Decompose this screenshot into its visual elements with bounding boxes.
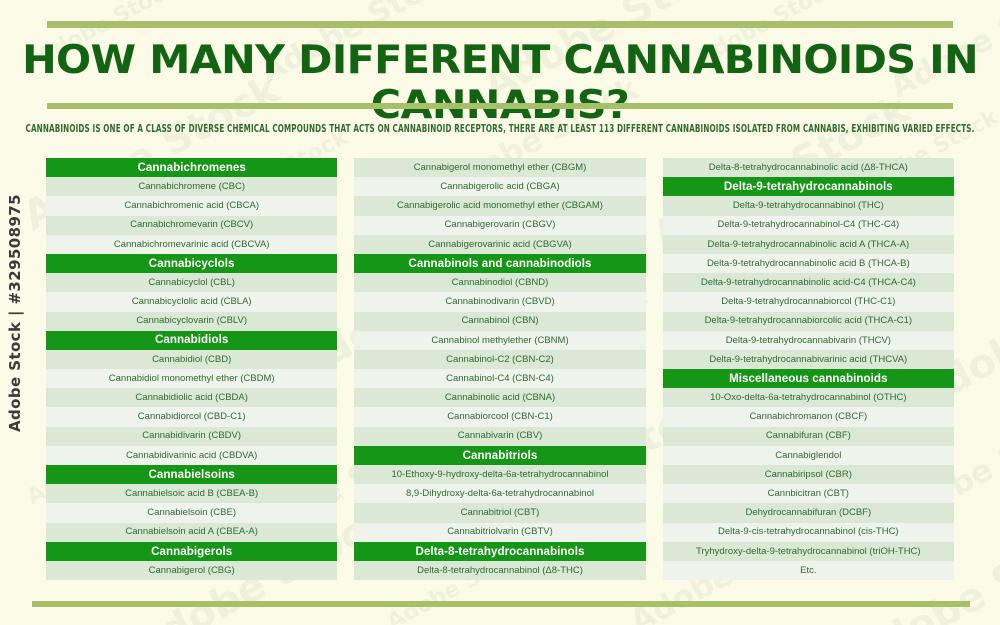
cannabinoid-row: Dehydrocannabifuran (DCBF) [663,503,954,522]
cannabinoid-row: Cannabigerovarin (CBGV) [354,216,645,235]
infographic-page: HOW MANY DIFFERENT CANNABINOIDS IN CANNA… [0,0,1000,625]
cannabinoid-row: Cannabigerol (CBG) [46,561,337,580]
cannabinoid-row: Delta-9-tetrahydrocannabivarinic acid (T… [663,350,954,369]
cannabinoid-row: Cannabitriolvarin (CBTV) [354,523,645,542]
cannabinoid-column-3: Delta-8-tetrahydrocannabinolic acid (Δ8-… [663,158,954,580]
cannabinoid-row: Cannabichromene (CBC) [46,177,337,196]
cannabinoid-row: Delta-9-tetrahydrocannabivarin (THCV) [663,331,954,350]
cannabinoid-row: Delta-9-tetrahydrocannabiorcolic acid (T… [663,312,954,331]
page-title: HOW MANY DIFFERENT CANNABINOIDS IN CANNA… [0,38,1000,128]
cannabinoid-row: Cannabifuran (CBF) [663,427,954,446]
stock-credit-label: Adobe Stock | #329508975 [6,194,24,432]
cannabinoid-column-2: Cannabigerol monomethyl ether (CBGM)Cann… [354,158,645,580]
cannabinoid-row: Cannabidiol monomethyl ether (CBDM) [46,369,337,388]
cannabinoid-row: Cannabinodivarin (CBVD) [354,292,645,311]
cannabinoid-row: 8,9-Dihydroxy-delta-6a-tetrahydrocannabi… [354,484,645,503]
cannabinoid-row: Cannabinol-C2 (CBN-C2) [354,350,645,369]
cannabinoid-row: Cannabigerolic acid (CBGA) [354,177,645,196]
cannabinoid-row: 10-Oxo-delta-6a-tetrahydrocannabinol (OT… [663,388,954,407]
cannabinoid-row: Delta-9-tetrahydrocannabiorcol (THC-C1) [663,292,954,311]
category-header: Delta-8-tetrahydrocannabinols [354,542,645,561]
cannabinoid-row: Cannabicyclovarin (CBLV) [46,312,337,331]
cannabinoid-row: Tryhydroxy-delta-9-tetrahydrocannabinol … [663,542,954,561]
cannabinoid-row: Cannabichromanon (CBCF) [663,407,954,426]
cannabinoid-row: Cannabidiolic acid (CBDA) [46,388,337,407]
cannabinoid-row: Cannabinol methylether (CBNM) [354,331,645,350]
top-divider-rule [47,21,953,28]
cannabinoid-row: Delta-8-tetrahydrocannabinol (Δ8-THC) [354,561,645,580]
cannabinoid-row: Cannabidivarinic acid (CBDVA) [46,446,337,465]
cannabinoid-row: Cannabinol-C4 (CBN-C4) [354,369,645,388]
cannabinoid-row: Cannabinodiol (CBND) [354,273,645,292]
cannabinoid-row: Cannabidiorcol (CBD-C1) [46,407,337,426]
stock-watermark-strip: Adobe Stock | #329508975 [0,0,30,625]
cannabinoid-row: Delta-9-tetrahydrocannabinolic acid A (T… [663,235,954,254]
cannabinoid-row: Cannabinolic acid (CBNA) [354,388,645,407]
cannabinoid-row: Etc. [663,561,954,580]
cannabinoid-row: Cannabidivarin (CBDV) [46,427,337,446]
cannabinoid-row: Delta-9-tetrahydrocannabinolic acid-C4 (… [663,273,954,292]
cannabinoid-row: Cannabiorcool (CBN-C1) [354,407,645,426]
category-header: Cannabigerols [46,542,337,561]
category-header: Cannabitriols [354,446,645,465]
cannabinoid-row: Cannabielsoin acid A (CBEA-A) [46,523,337,542]
cannabinoid-columns: CannabichromenesCannabichromene (CBC)Can… [46,158,954,580]
cannabinoid-row: Cannabielsoic acid B (CBEA-B) [46,484,337,503]
cannabinoid-row: Delta-9-tetrahydrocannabinol (THC) [663,196,954,215]
cannabinoid-row: 10-Ethoxy-9-hydroxy-delta-6a-tetrahydroc… [354,465,645,484]
category-header: Cannabichromenes [46,158,337,177]
cannabinoid-row: Cannabichromevarinic acid (CBCVA) [46,235,337,254]
category-header: Cannabinols and cannabinodiols [354,254,645,273]
cannabinoid-row: Cannabichromenic acid (CBCA) [46,196,337,215]
cannabinoid-row: Cannabigerovarinic acid (CBGVA) [354,235,645,254]
cannabinoid-row: Cannabitriol (CBT) [354,503,645,522]
category-header: Cannabielsoins [46,465,337,484]
cannabinoid-row: Delta-9-tetrahydrocannabinol-C4 (THC-C4) [663,216,954,235]
cannabinoid-row: Cannabigerol monomethyl ether (CBGM) [354,158,645,177]
cannabinoid-row: Cannabiripsol (CBR) [663,465,954,484]
bottom-divider-rule [32,601,970,607]
cannabinoid-row: Cannabicyclol (CBL) [46,273,337,292]
cannabinoid-row: Cannbicitran (CBT) [663,484,954,503]
cannabinoid-row: Cannabicyclolic acid (CBLA) [46,292,337,311]
category-header: Miscellaneous cannabinoids [663,369,954,388]
cannabinoid-row: Cannabinol (CBN) [354,312,645,331]
cannabinoid-column-1: CannabichromenesCannabichromene (CBC)Can… [46,158,337,580]
cannabinoid-row: Delta-9-cis-tetrahydrocannabinol (cis-TH… [663,523,954,542]
category-header: Cannabicyclols [46,254,337,273]
category-header: Delta-9-tetrahydrocannabinols [663,177,954,196]
cannabinoid-row: Cannabiglendol [663,446,954,465]
cannabinoid-row: Cannabielsoin (CBE) [46,503,337,522]
page-subtitle: CANNABINOIDS IS ONE OF A CLASS OF DIVERS… [0,122,1000,135]
cannabinoid-row: Cannabivarin (CBV) [354,427,645,446]
cannabinoid-row: Cannabichromevarin (CBCV) [46,216,337,235]
cannabinoid-row: Delta-9-tetrahydrocannabinolic acid B (T… [663,254,954,273]
middle-divider-rule [47,103,953,109]
cannabinoid-row: Cannabidiol (CBD) [46,350,337,369]
cannabinoid-row: Cannabigerolic acid monomethyl ether (CB… [354,196,645,215]
category-header: Cannabidiols [46,331,337,350]
cannabinoid-row: Delta-8-tetrahydrocannabinolic acid (Δ8-… [663,158,954,177]
